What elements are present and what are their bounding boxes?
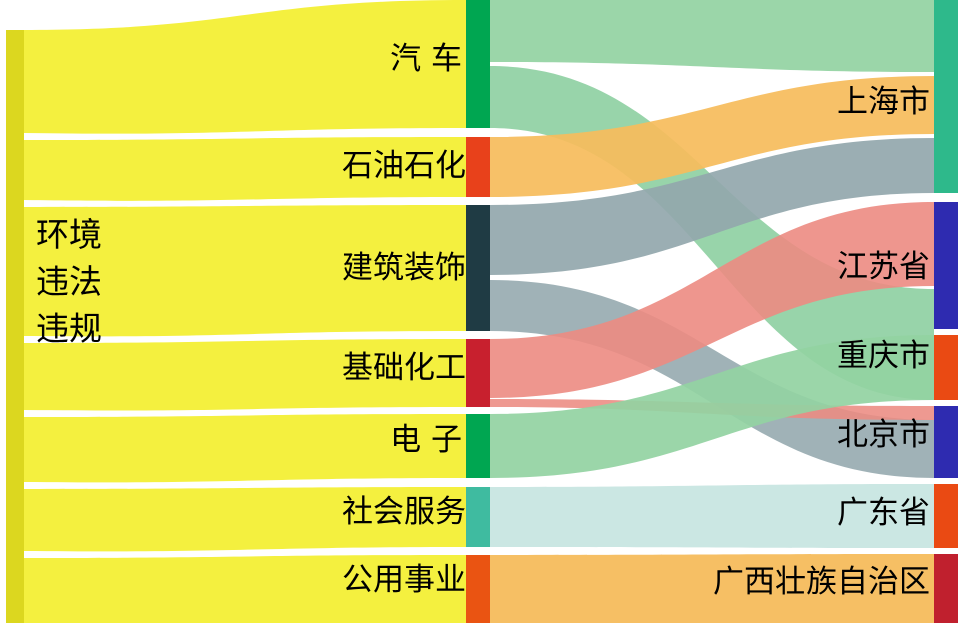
link-group-industry-to-region [490, 0, 934, 623]
sankey-canvas [0, 0, 960, 623]
node-dianzi[interactable] [466, 414, 490, 478]
node-guangxi[interactable] [934, 554, 958, 623]
node-env-violation[interactable] [6, 30, 24, 623]
link-qiche-to-shanghai [490, 0, 934, 72]
link-group-source-to-industry [24, 0, 466, 623]
link-env-to-shiyou [24, 137, 466, 201]
node-jianzhu[interactable] [466, 205, 490, 331]
node-shiyou[interactable] [466, 137, 490, 197]
link-env-to-dianzi [24, 414, 466, 482]
link-env-to-jichu [24, 339, 466, 410]
node-gongyong[interactable] [466, 555, 490, 623]
link-gongyong-to-guangxi [490, 554, 934, 623]
node-group-region [934, 0, 958, 623]
link-env-to-gongyong [24, 555, 466, 623]
node-group-source [6, 30, 24, 623]
link-env-to-qiche [24, 0, 466, 134]
link-env-to-jianzhu [24, 205, 466, 336]
node-jichu[interactable] [466, 339, 490, 407]
node-qiche[interactable] [466, 0, 490, 128]
link-env-to-shehui [24, 487, 466, 551]
node-shehui[interactable] [466, 487, 490, 547]
node-group-industry [466, 0, 490, 623]
node-beijing[interactable] [934, 406, 958, 478]
node-chongqing[interactable] [934, 335, 958, 400]
sankey-diagram: 环境 违法 违规 汽 车 石油石化 建筑装饰 基础化工 电 子 社会服务 公用事… [0, 0, 960, 623]
node-shanghai[interactable] [934, 0, 958, 193]
link-shehui-to-guangdong [490, 484, 934, 548]
node-jiangsu[interactable] [934, 202, 958, 329]
node-guangdong[interactable] [934, 484, 958, 548]
